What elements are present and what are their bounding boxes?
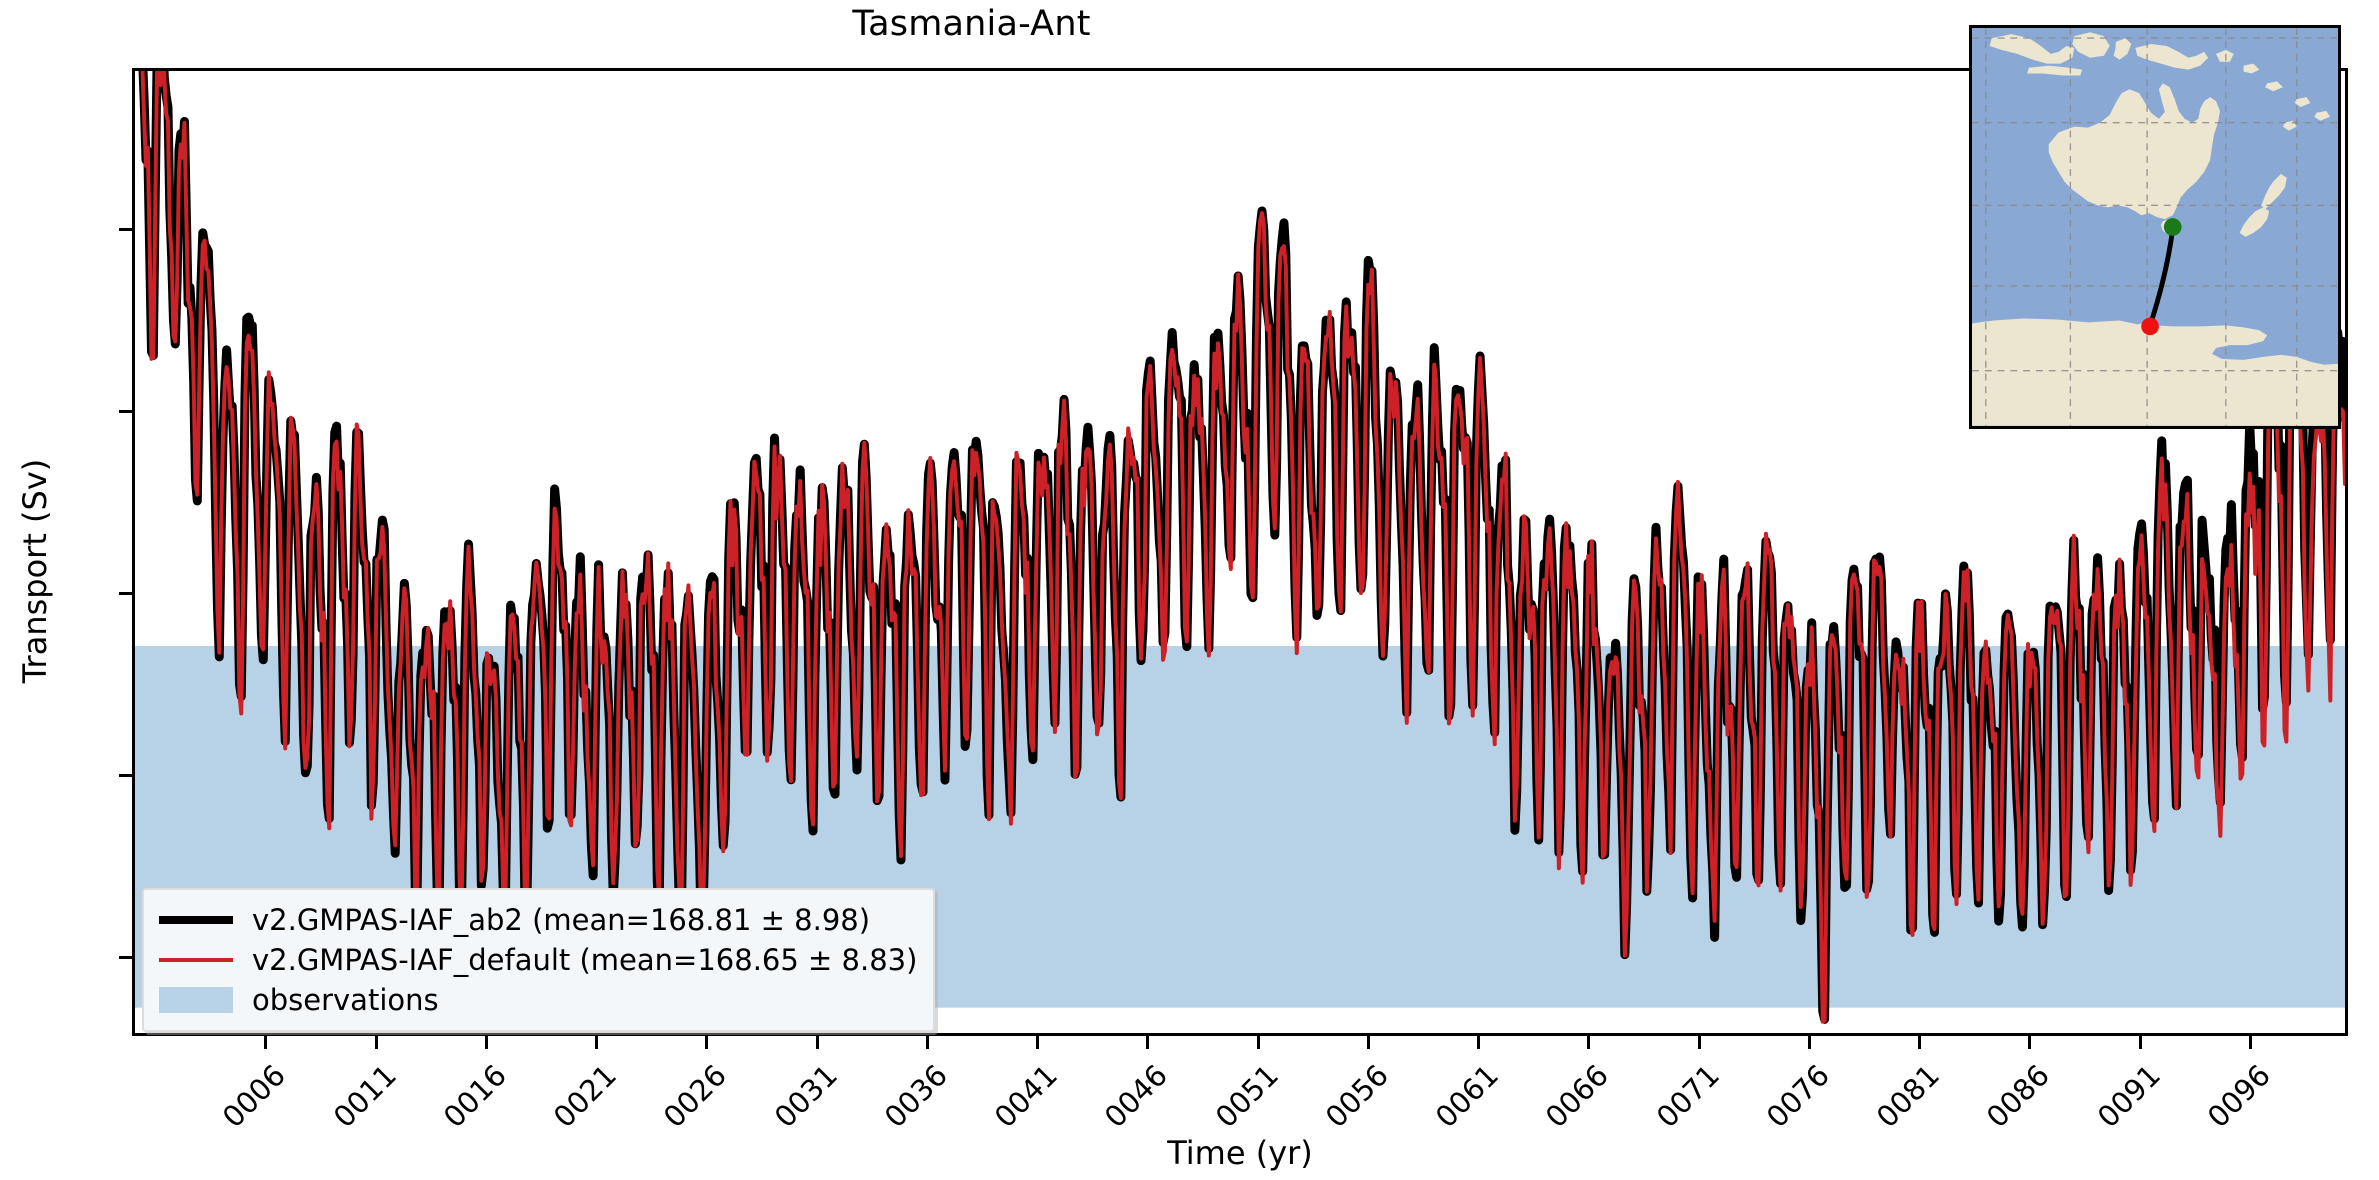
x-tick-mark (1036, 1036, 1039, 1049)
y-axis-label: Transport (Sv) (16, 311, 54, 831)
x-tick-label: 0086 (1969, 1058, 2057, 1146)
x-tick-label: 0016 (425, 1058, 513, 1146)
x-tick-label: 0031 (756, 1058, 844, 1146)
legend-swatch-line-black (158, 900, 234, 940)
x-tick-mark (2249, 1036, 2252, 1049)
x-tick-label: 0076 (1748, 1058, 1836, 1146)
x-tick-mark (1808, 1036, 1811, 1049)
x-tick-mark (2028, 1036, 2031, 1049)
y-tick-mark (119, 228, 132, 231)
x-tick-mark (1146, 1036, 1149, 1049)
antarctica-endpoint-marker (2141, 318, 2159, 336)
x-tick-mark (485, 1036, 488, 1049)
x-tick-mark (1698, 1036, 1701, 1049)
legend-label-observations: observations (252, 983, 439, 1017)
page-title: Tasmania-Ant (0, 4, 2161, 44)
x-tick-label: 0056 (1307, 1058, 1395, 1146)
x-tick-label: 0021 (535, 1058, 623, 1146)
tasmania-endpoint-marker (2164, 218, 2182, 236)
x-tick-mark (1257, 1036, 1260, 1049)
x-tick-label: 0071 (1638, 1058, 1726, 1146)
x-tick-label: 0006 (205, 1058, 293, 1146)
legend-swatch-line-red (158, 940, 234, 980)
x-tick-mark (375, 1036, 378, 1049)
y-tick-mark (119, 410, 132, 413)
y-tick-mark (119, 774, 132, 777)
x-tick-label: 0036 (866, 1058, 954, 1146)
x-tick-mark (264, 1036, 267, 1049)
x-tick-mark (1477, 1036, 1480, 1049)
x-tick-mark (1587, 1036, 1590, 1049)
x-tick-label: 0026 (646, 1058, 734, 1146)
x-axis-label: Time (yr) (132, 1134, 2348, 1172)
figure-canvas: Tasmania-Ant Transport (Sv) Time (yr) 15… (0, 0, 2379, 1180)
x-tick-label: 0091 (2079, 1058, 2167, 1146)
legend-item-observations: observations (158, 980, 917, 1020)
transect-location-map (1969, 25, 2341, 429)
x-tick-label: 0011 (315, 1058, 403, 1146)
legend: v2.GMPAS-IAF_ab2 (mean=168.81 ± 8.98) v2… (142, 888, 935, 1032)
x-tick-mark (1918, 1036, 1921, 1049)
y-tick-mark (119, 592, 132, 595)
x-tick-label: 0081 (1858, 1058, 1946, 1146)
x-tick-mark (926, 1036, 929, 1049)
x-tick-mark (816, 1036, 819, 1049)
legend-item-model-default: v2.GMPAS-IAF_default (mean=168.65 ± 8.83… (158, 940, 917, 980)
legend-item-model-ab2: v2.GMPAS-IAF_ab2 (mean=168.81 ± 8.98) (158, 900, 917, 940)
x-tick-label: 0046 (1087, 1058, 1175, 1146)
x-tick-label: 0041 (976, 1058, 1064, 1146)
legend-label-model-ab2: v2.GMPAS-IAF_ab2 (mean=168.81 ± 8.98) (252, 903, 870, 937)
x-tick-label: 0051 (1197, 1058, 1285, 1146)
x-tick-label: 0061 (1417, 1058, 1505, 1146)
legend-label-model-default: v2.GMPAS-IAF_default (mean=168.65 ± 8.83… (252, 943, 917, 977)
legend-swatch-band-blue (158, 980, 234, 1020)
x-tick-label: 0096 (2189, 1058, 2277, 1146)
inset-map-svg (1972, 28, 2338, 426)
x-tick-mark (595, 1036, 598, 1049)
y-tick-mark (119, 956, 132, 959)
x-tick-mark (705, 1036, 708, 1049)
x-tick-mark (1367, 1036, 1370, 1049)
x-tick-mark (2139, 1036, 2142, 1049)
x-tick-label: 0066 (1528, 1058, 1616, 1146)
